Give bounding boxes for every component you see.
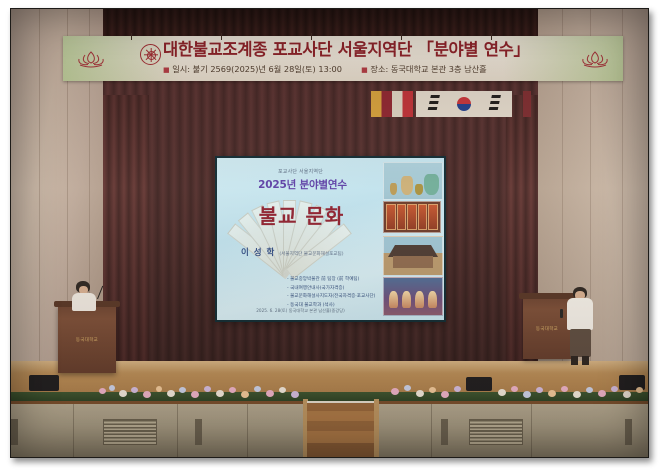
banner-date-value: 불기 2569(2025)년 6월 28일(토) 13:00 bbox=[193, 64, 342, 74]
speaker-name: 이 성 학 bbox=[241, 248, 275, 258]
podium-left: 동국대학교 bbox=[58, 305, 116, 373]
auditorium-interior: 대한불교조계종 포교사단 서울지역단 「분야별 연수」 ■ 일시: 불기 256… bbox=[11, 9, 648, 457]
banner-title: 대한불교조계종 포교사단 서울지역단 「분야별 연수」 bbox=[163, 39, 565, 61]
microphone-right bbox=[560, 309, 563, 318]
flag-row bbox=[131, 91, 531, 117]
lotus-emblem-left bbox=[75, 48, 107, 70]
stair-rail-right bbox=[374, 399, 379, 457]
projection-screen: 포교사단 서울지역단 2025년 분야별연수 불교 문화 이 성 학 (서울지역… bbox=[215, 156, 446, 322]
stage-stairs bbox=[307, 401, 379, 457]
slide-subtitle: 2025년 분야별연수 bbox=[217, 177, 388, 192]
speaker-affiliation: (서울지역단 불교문화해설포교팀) bbox=[279, 252, 343, 257]
buddhist-mural-photo bbox=[383, 277, 443, 316]
organization-flag bbox=[523, 91, 531, 117]
stage-vent-left bbox=[103, 419, 157, 445]
speaker-with-microphone bbox=[567, 287, 593, 367]
photo-page: 대한불교조계종 포교사단 서울지역단 「분야별 연수」 ■ 일시: 불기 256… bbox=[0, 0, 663, 474]
photo-frame: 대한불교조계종 포교사단 서울지역단 「분야별 연수」 ■ 일시: 불기 256… bbox=[10, 8, 649, 458]
list-item: 불교중앙박물관 前 팀장 (前 학예팀) bbox=[287, 276, 376, 285]
korean-flag bbox=[416, 91, 512, 117]
scripture-panels-photo bbox=[383, 201, 441, 233]
banner-date-label: 일시: bbox=[172, 64, 190, 74]
speaker-credentials: 불교중앙박물관 前 팀장 (前 학예팀) 국내여행안내사(국가자격증) 불교문화… bbox=[247, 276, 376, 310]
temple-building-photo bbox=[383, 236, 443, 276]
event-photograph: 대한불교조계종 포교사단 서울지역단 「분야별 연수」 ■ 일시: 불기 256… bbox=[11, 9, 648, 457]
buddhist-flag bbox=[371, 91, 413, 117]
stage-vent-right bbox=[469, 419, 523, 445]
slide-footer: 2025. 6. 28(토) 동국대학교 본관 남산홀(중강당) bbox=[217, 308, 384, 314]
curtain-valance bbox=[81, 9, 566, 39]
banner-subtitle: ■ 일시: 불기 2569(2025)년 6월 28일(토) 13:00 ■ 장… bbox=[163, 63, 567, 76]
list-item: 국내여행안내사(국가자격증) bbox=[287, 285, 376, 294]
slide-speaker: 이 성 학 (서울지역단 불교문화해설포교팀) bbox=[241, 246, 374, 258]
presentation-slide: 포교사단 서울지역단 2025년 분야별연수 불교 문화 이 성 학 (서울지역… bbox=[217, 158, 444, 320]
banner-place-label: 장소: bbox=[370, 64, 388, 74]
slide-title: 불교 문화 bbox=[217, 200, 386, 229]
slide-image-column bbox=[383, 162, 441, 316]
lotus-emblem-right bbox=[579, 48, 611, 70]
podium-left-mark: 동국대학교 bbox=[58, 338, 116, 344]
list-item: 불교문화해설사지도자(전국자격증·포교사단) bbox=[287, 293, 376, 302]
celadon-pottery-photo bbox=[383, 162, 443, 200]
stage-apron bbox=[11, 401, 648, 457]
podium-right: 동국대학교 bbox=[523, 297, 571, 359]
dharma-wheel-icon bbox=[140, 44, 161, 65]
podium-right-mark: 동국대학교 bbox=[523, 327, 571, 333]
banner-place-value: 동국대학교 본관 3층 남산홀 bbox=[391, 64, 487, 74]
presenter-at-podium bbox=[71, 281, 97, 311]
slide-eyebrow: 포교사단 서울지역단 bbox=[217, 168, 384, 175]
event-banner: 대한불교조계종 포교사단 서울지역단 「분야별 연수」 ■ 일시: 불기 256… bbox=[63, 36, 623, 81]
